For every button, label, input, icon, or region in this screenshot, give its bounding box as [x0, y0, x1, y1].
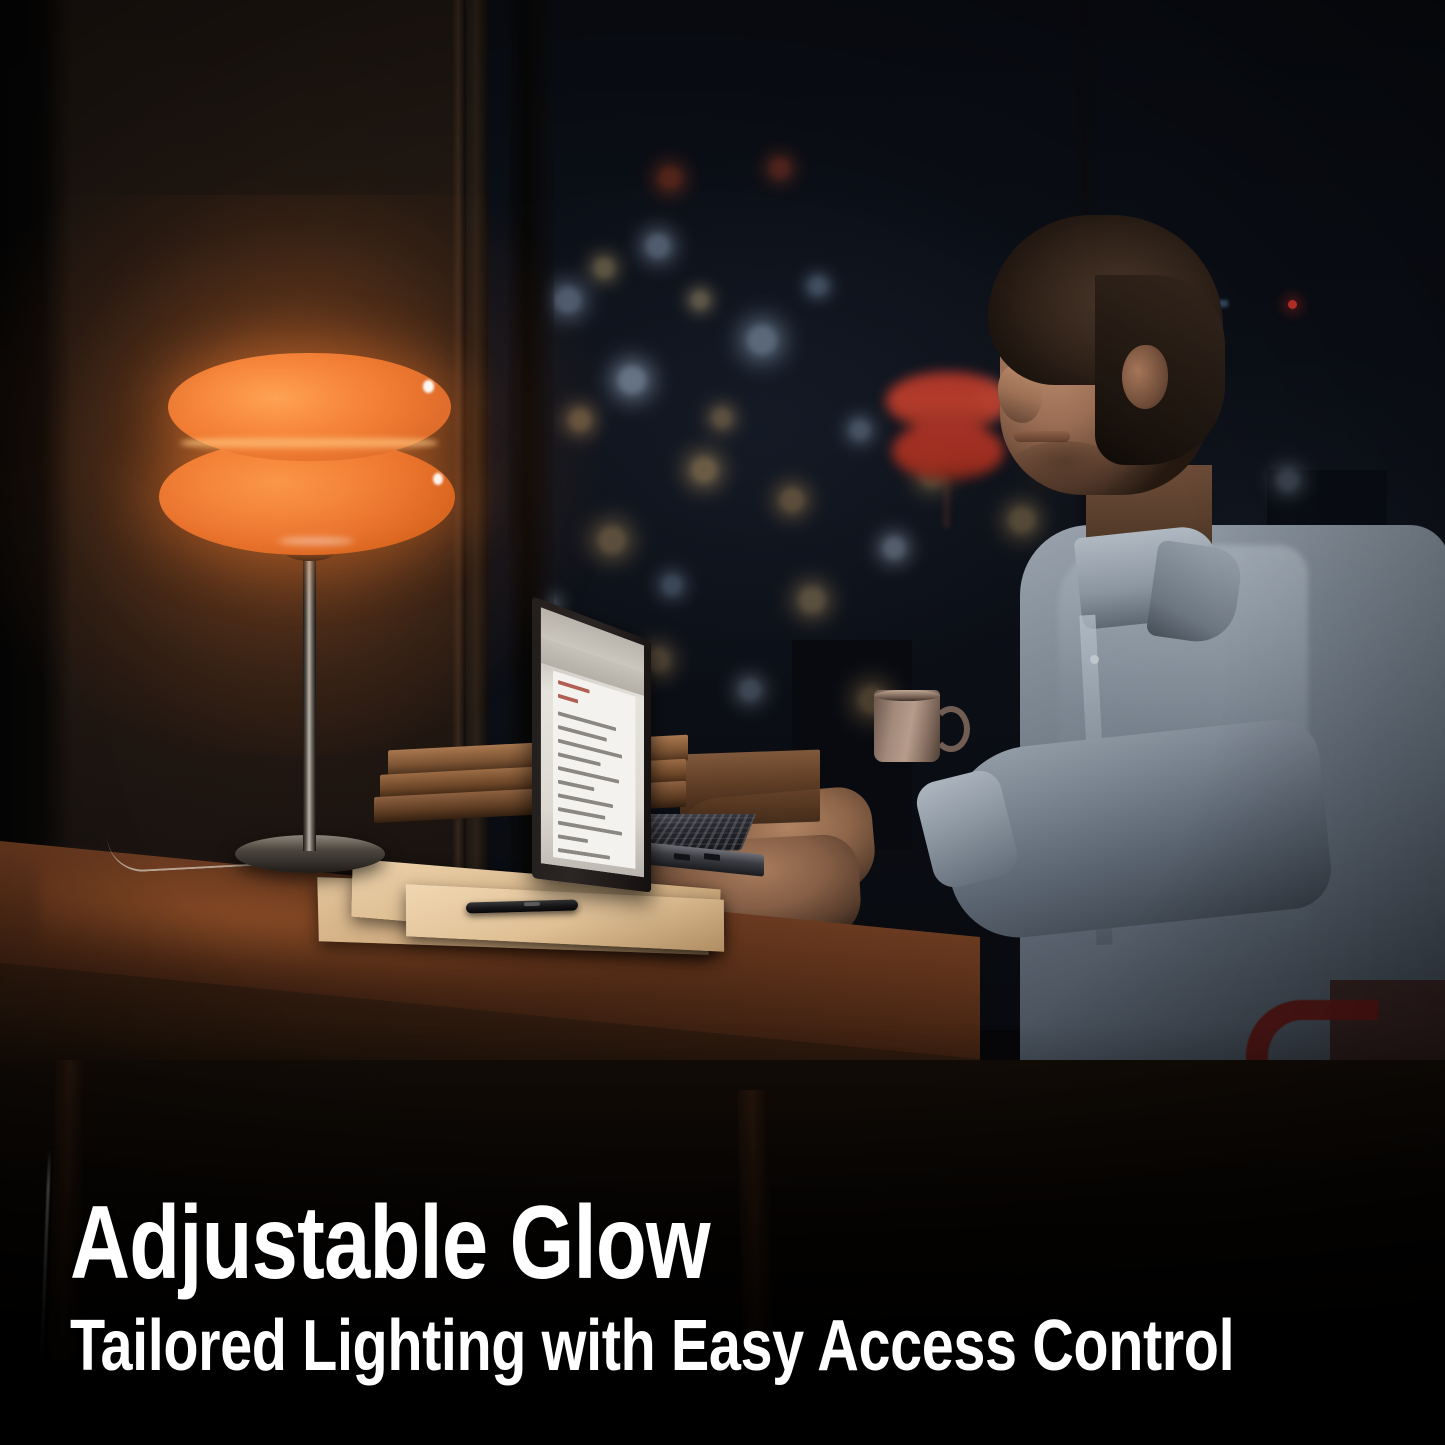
mug-rim: [874, 690, 940, 701]
screen-text-line: [558, 725, 607, 742]
bokeh-light: [712, 408, 732, 428]
bokeh-light: [618, 366, 646, 394]
table-lamp: [150, 335, 470, 895]
bokeh-light: [799, 587, 825, 613]
ear: [1122, 345, 1168, 409]
lamp-specular-highlight: [423, 380, 434, 393]
screen-text-line: [558, 752, 600, 766]
bokeh-light: [747, 325, 777, 355]
screen-text-line: [558, 834, 588, 843]
screen-text-line: [558, 793, 613, 808]
bokeh-light: [594, 258, 614, 278]
marketing-banner: Adjustable Glow Tailored Lighting with E…: [0, 0, 1445, 1445]
pen-clip: [524, 902, 540, 906]
laptop-screen: [541, 607, 644, 877]
bokeh-light: [662, 575, 682, 595]
screen-text-line: [558, 821, 622, 836]
caption-block: Adjustable Glow Tailored Lighting with E…: [70, 1191, 1410, 1385]
bokeh-light: [555, 287, 581, 313]
lamp-stem: [303, 551, 316, 851]
screen-text-line: [558, 780, 594, 792]
laptop: [526, 596, 756, 896]
screen-text-line: [558, 807, 605, 820]
bokeh-light: [809, 277, 827, 295]
shirt-button: [1090, 655, 1099, 664]
bokeh-light: [850, 420, 870, 440]
bokeh-light: [691, 457, 717, 483]
screen-text-line: [558, 848, 610, 860]
coffee-mug: [874, 690, 954, 762]
bokeh-light: [780, 488, 804, 512]
lamp-specular-highlight: [433, 473, 443, 485]
lamp-shade-seam: [180, 435, 438, 451]
bokeh-light: [569, 409, 591, 431]
lamp-specular-highlight: [278, 537, 354, 545]
screen-text-line: [558, 680, 589, 693]
bokeh-light: [646, 234, 670, 258]
screen-document: [553, 671, 635, 869]
headline: Adjustable Glow: [70, 1191, 1142, 1295]
bokeh-light: [770, 158, 790, 178]
bokeh-light: [598, 526, 626, 554]
bokeh-light: [659, 167, 681, 189]
bokeh-light: [691, 291, 709, 309]
screen-text-line: [558, 694, 578, 704]
laptop-lid: [532, 596, 651, 893]
subheadline: Tailored Lighting with Easy Access Contr…: [70, 1309, 1142, 1385]
